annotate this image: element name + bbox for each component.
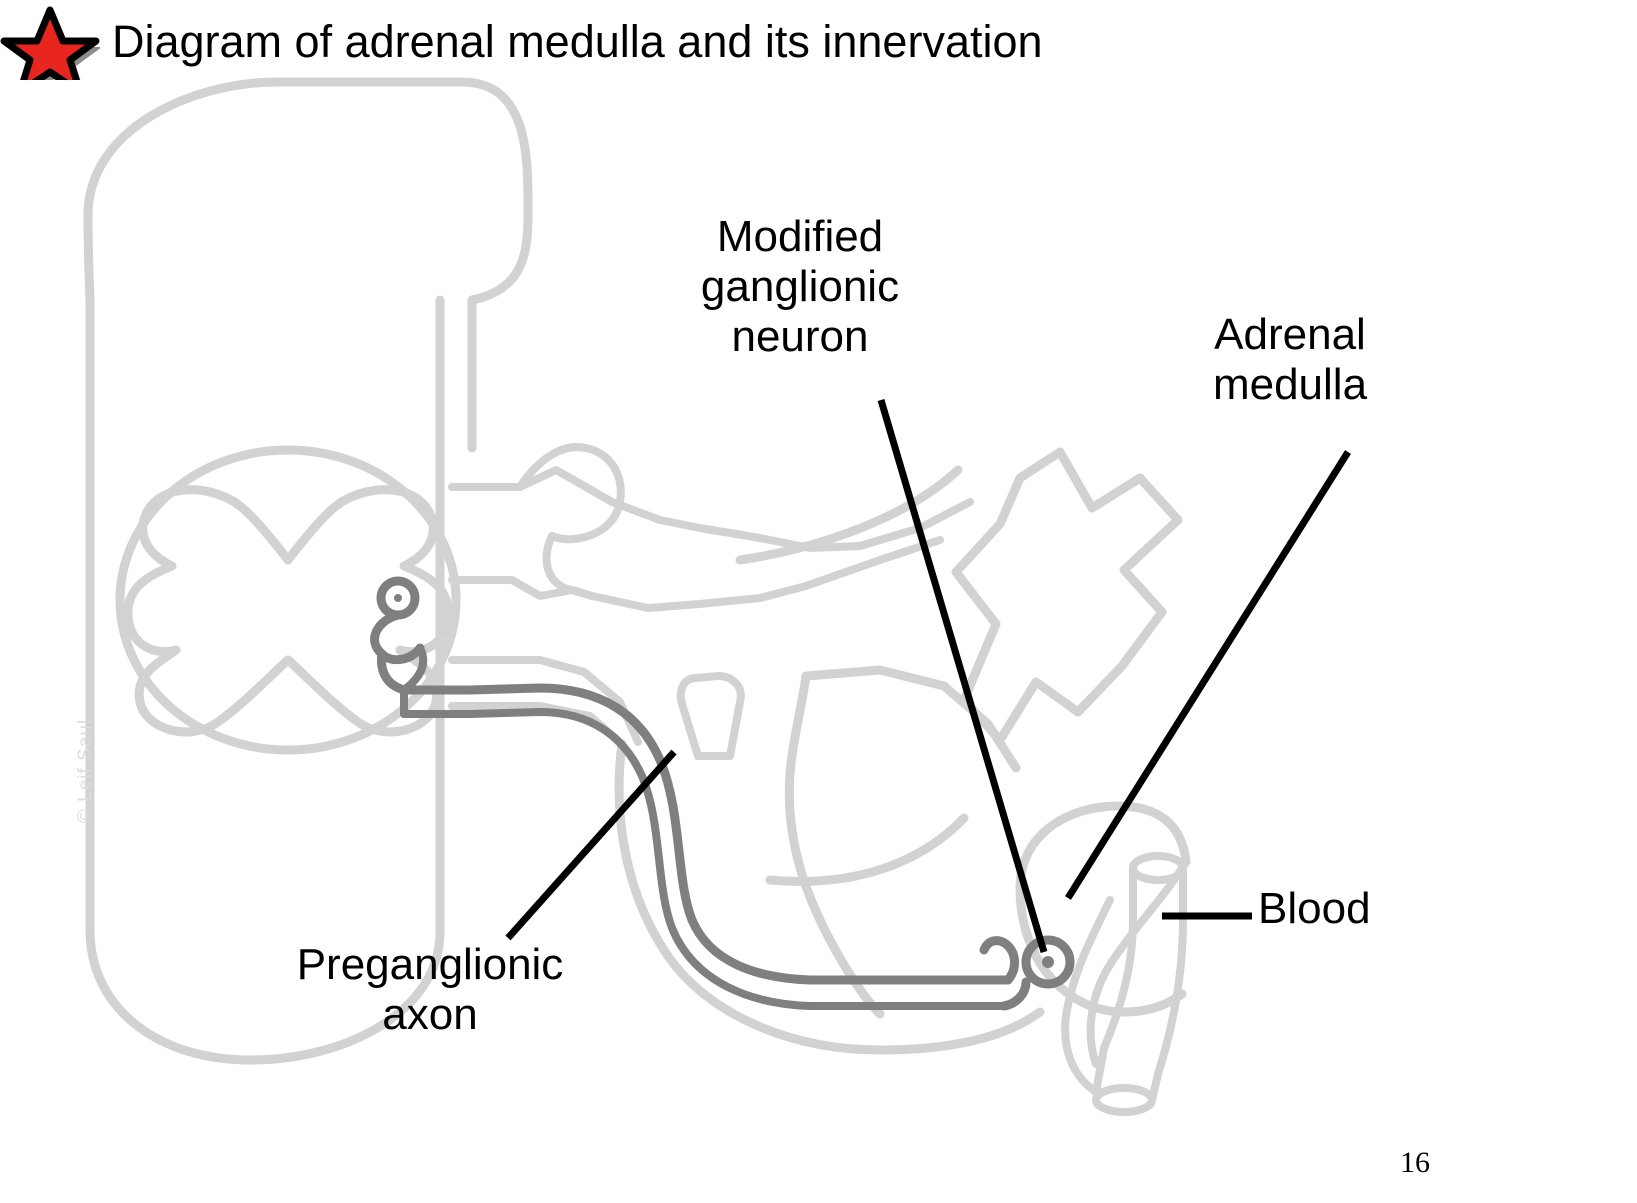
sympathetic-chain-ganglion — [681, 676, 741, 756]
slide-canvas: .anat { fill: none; stroke: #d2d2d2; str… — [0, 0, 1637, 1203]
page-number: 16 — [1400, 1146, 1480, 1180]
label-blood: Blood — [1258, 884, 1518, 934]
copyright-watermark: © Leif Saul — [75, 681, 97, 861]
star-icon — [0, 0, 100, 80]
label-adrenal-medulla: Adrenal medulla — [1140, 310, 1440, 410]
spinal-roots-and-nerve — [452, 447, 970, 608]
leader-preganglionic-axon — [508, 752, 674, 938]
page-title: Diagram of adrenal medulla and its inner… — [112, 14, 1043, 70]
title-row: Diagram of adrenal medulla and its inner… — [0, 0, 1637, 86]
label-modified-ganglionic-neuron: Modified ganglionic neuron — [650, 212, 950, 362]
label-preganglionic-axon: Preganglionic axon — [230, 940, 630, 1040]
blood-vessel — [1065, 856, 1186, 1112]
rib-transverse-process — [956, 452, 1178, 740]
